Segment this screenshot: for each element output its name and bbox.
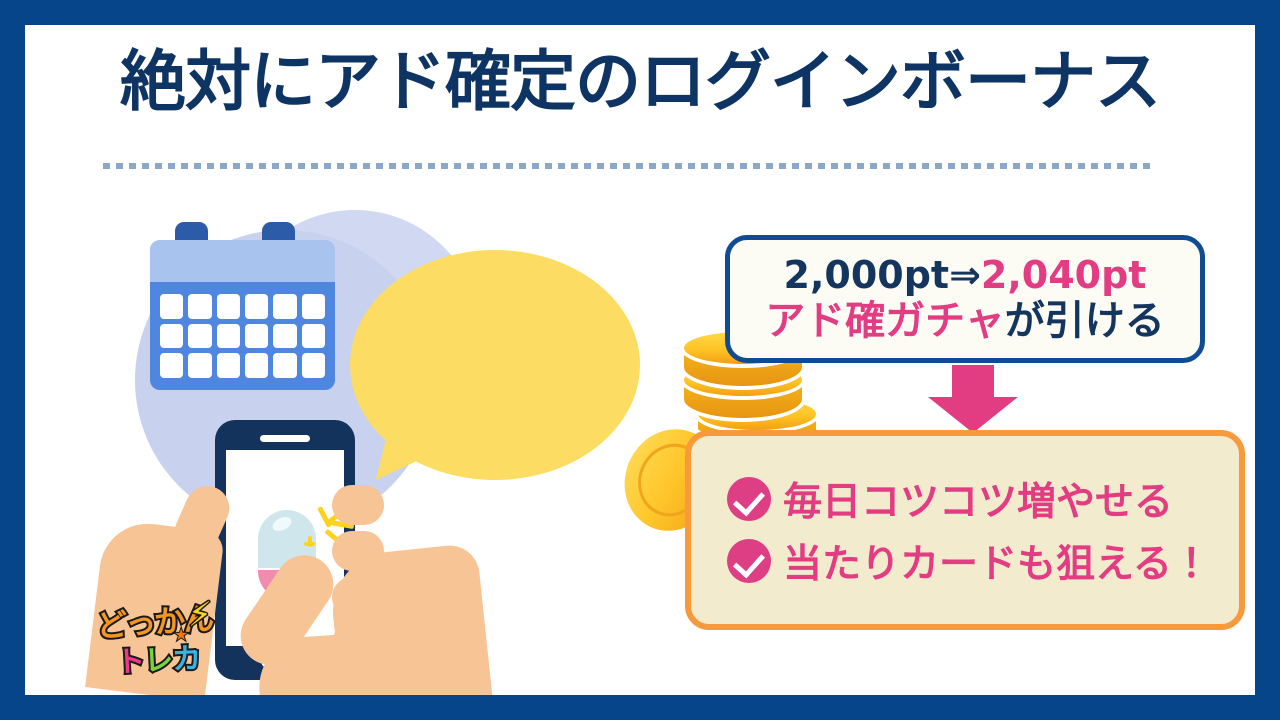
calendar-day	[188, 294, 211, 319]
calendar-day	[273, 294, 296, 319]
brand-logo[interactable]: どっかん ⚡ ★ トレカ	[92, 595, 217, 685]
title-area: 絶対にアド確定のログインボーナス	[25, 47, 1255, 116]
calendar-day	[160, 294, 183, 319]
calendar-day	[245, 294, 268, 319]
calendar-day	[245, 324, 268, 349]
dotted-divider	[103, 163, 1153, 169]
sparkle-icon	[308, 536, 312, 547]
page-title: 絶対にアド確定のログインボーナス	[25, 47, 1255, 116]
benefit-box: 毎日コツコツ増やせる 当たりカードも狙える！	[685, 430, 1245, 630]
banner-inner: 絶対にアド確定のログインボーナス	[25, 25, 1255, 695]
gacha-suffix: が引ける	[1005, 298, 1165, 344]
point-before-value: 2,000pt⇒	[784, 253, 981, 297]
info-panel: 2,000pt⇒2,040pt アド確ガチャが引ける 毎日コツコツ増やせる 当た…	[680, 215, 1255, 645]
calendar-day	[302, 324, 325, 349]
calendar-grid	[150, 282, 335, 390]
arrow-head	[928, 397, 1018, 433]
gacha-label: アド確ガチャ	[765, 298, 1005, 344]
point-line-1: 2,000pt⇒2,040pt	[784, 253, 1147, 298]
point-after-value: 2,040pt	[981, 253, 1147, 297]
arrow-stem	[952, 365, 994, 399]
down-arrow-icon	[928, 365, 1018, 433]
calendar-day	[217, 324, 240, 349]
calendar-day	[188, 353, 211, 378]
list-item: 当たりカードも狙える！	[727, 533, 1239, 589]
logo-char-ka: カ	[171, 641, 201, 676]
calendar-header	[150, 240, 335, 282]
benefit-label: 当たりカードも狙える！	[783, 533, 1211, 589]
check-icon	[727, 539, 771, 583]
calendar-day	[302, 294, 325, 319]
benefit-label: 毎日コツコツ増やせる	[783, 471, 1173, 527]
calendar-body	[150, 240, 335, 390]
calendar-day	[188, 324, 211, 349]
promo-banner: 絶対にアド確定のログインボーナス	[0, 0, 1280, 720]
speech-bubble	[350, 250, 640, 480]
point-line-2: アド確ガチャが引ける	[765, 298, 1165, 345]
calendar-icon	[150, 240, 335, 390]
point-callout-box: 2,000pt⇒2,040pt アド確ガチャが引ける	[725, 235, 1205, 363]
lightning-bolt-icon: ⚡	[188, 595, 212, 635]
illustration: どっかん ⚡ ★ トレカ	[80, 195, 650, 695]
check-icon	[727, 477, 771, 521]
calendar-day	[245, 353, 268, 378]
logo-char-to: ト	[115, 644, 145, 679]
list-item: 毎日コツコツ増やせる	[727, 471, 1239, 527]
calendar-day	[160, 353, 183, 378]
calendar-day	[160, 324, 183, 349]
phone-speaker	[260, 435, 310, 442]
calendar-day	[302, 353, 325, 378]
calendar-day	[217, 353, 240, 378]
calendar-day	[217, 294, 240, 319]
hand-finger	[332, 485, 384, 525]
calendar-day	[273, 324, 296, 349]
calendar-day	[273, 353, 296, 378]
logo-char-re: レ	[143, 642, 173, 677]
